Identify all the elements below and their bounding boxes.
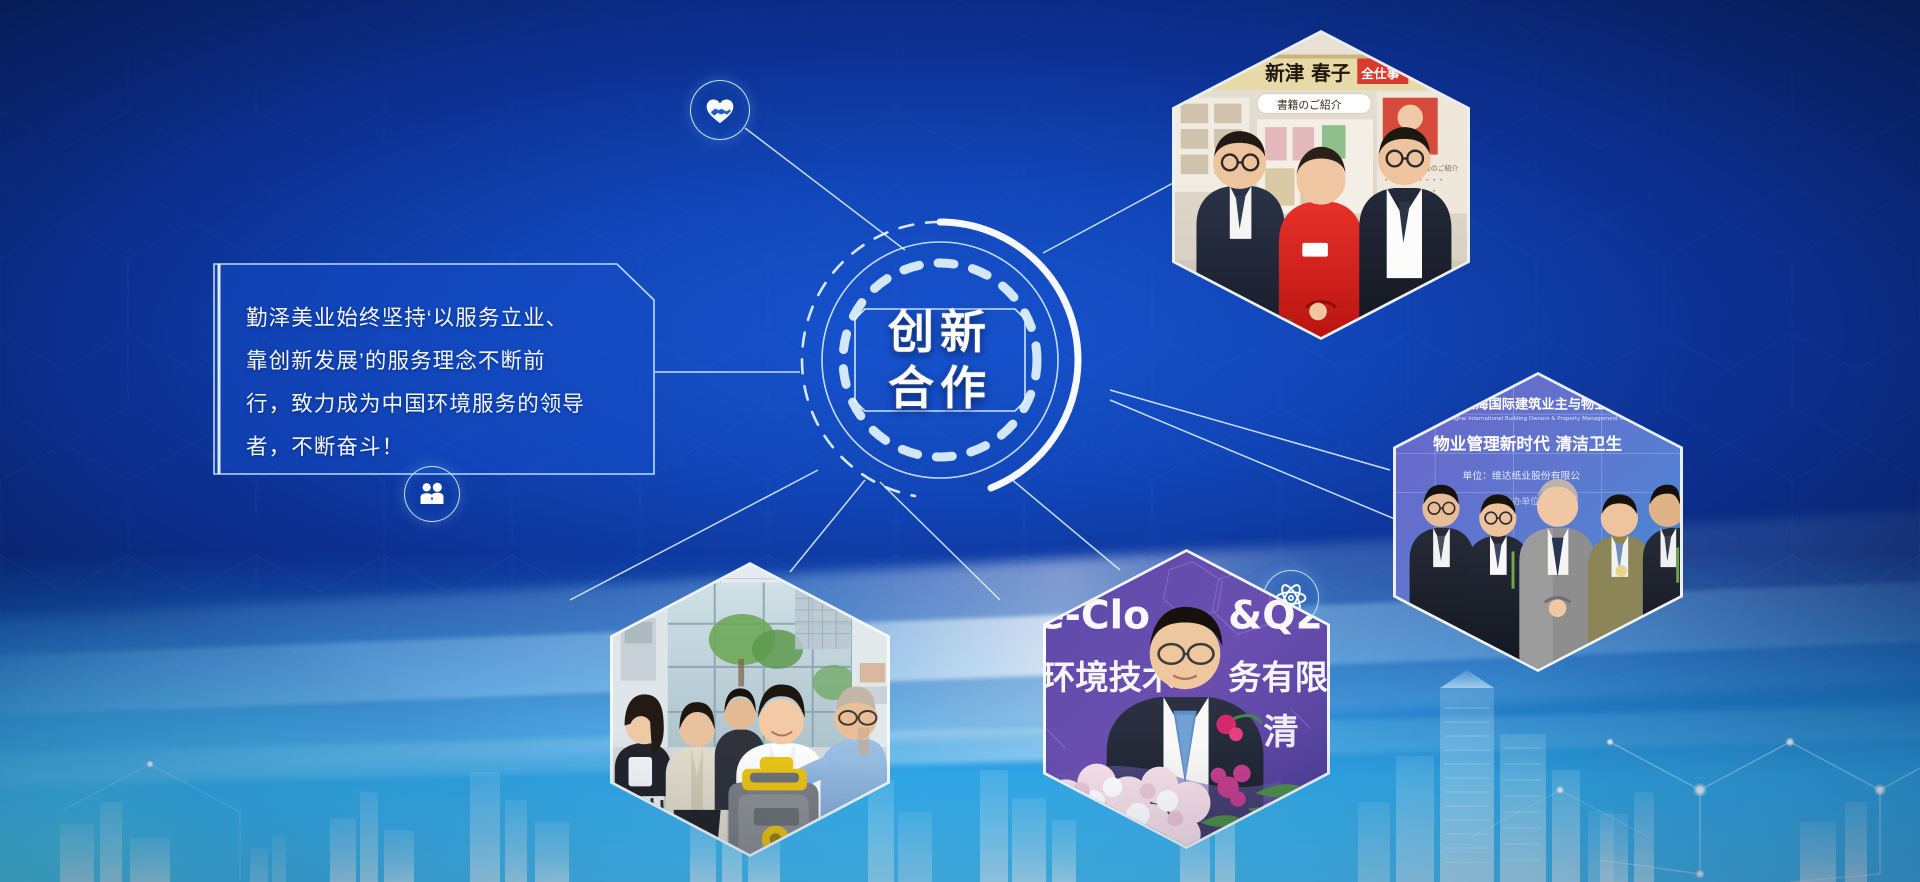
banner-stage: 勤泽美业始终坚持‘以服务立业、 靠创新发展’的服务理念不断前 行，致力成为中国环… [0,0,1920,882]
center-title: 创新 合作 [795,215,1085,505]
svg-text:書籍のご紹介: 書籍のご紹介 [1277,99,1342,112]
quote-line: 勤泽美业始终坚持‘以服务立业、 [246,297,621,340]
svg-text:全仕事: 全仕事 [1360,66,1399,82]
center-title-line: 创新 [888,305,992,359]
quote-line: 者，不断奋斗！ [246,426,621,469]
center-title-line: 合作 [888,361,992,415]
svg-text:务有限: 务有限 [1228,658,1327,697]
quote-box: 勤泽美业始终坚持‘以服务立业、 靠创新发展’的服务理念不断前 行，致力成为中国环… [213,263,655,475]
icon-node-team[interactable] [404,466,460,522]
icon-node-handshake[interactable] [690,80,750,140]
quote-text: 勤泽美业始终坚持‘以服务立业、 靠创新发展’的服务理念不断前 行，致力成为中国环… [246,297,621,469]
svg-text:新津 春子: 新津 春子 [1265,62,1351,85]
quote-line: 靠创新发展’的服务理念不断前 [246,340,621,383]
svg-text:物业管理新时代 清洁卫生: 物业管理新时代 清洁卫生 [1433,433,1622,453]
center-emblem: 创新 合作 [795,215,1085,505]
svg-text:清: 清 [1263,712,1298,753]
handshake-heart-icon [703,93,737,127]
two-people-icon [416,478,448,510]
svg-text:2019 Shanghai International Bu: 2019 Shanghai International Building Own… [1425,416,1632,422]
quote-line: 行，致力成为中国环境服务的领导 [246,383,621,426]
